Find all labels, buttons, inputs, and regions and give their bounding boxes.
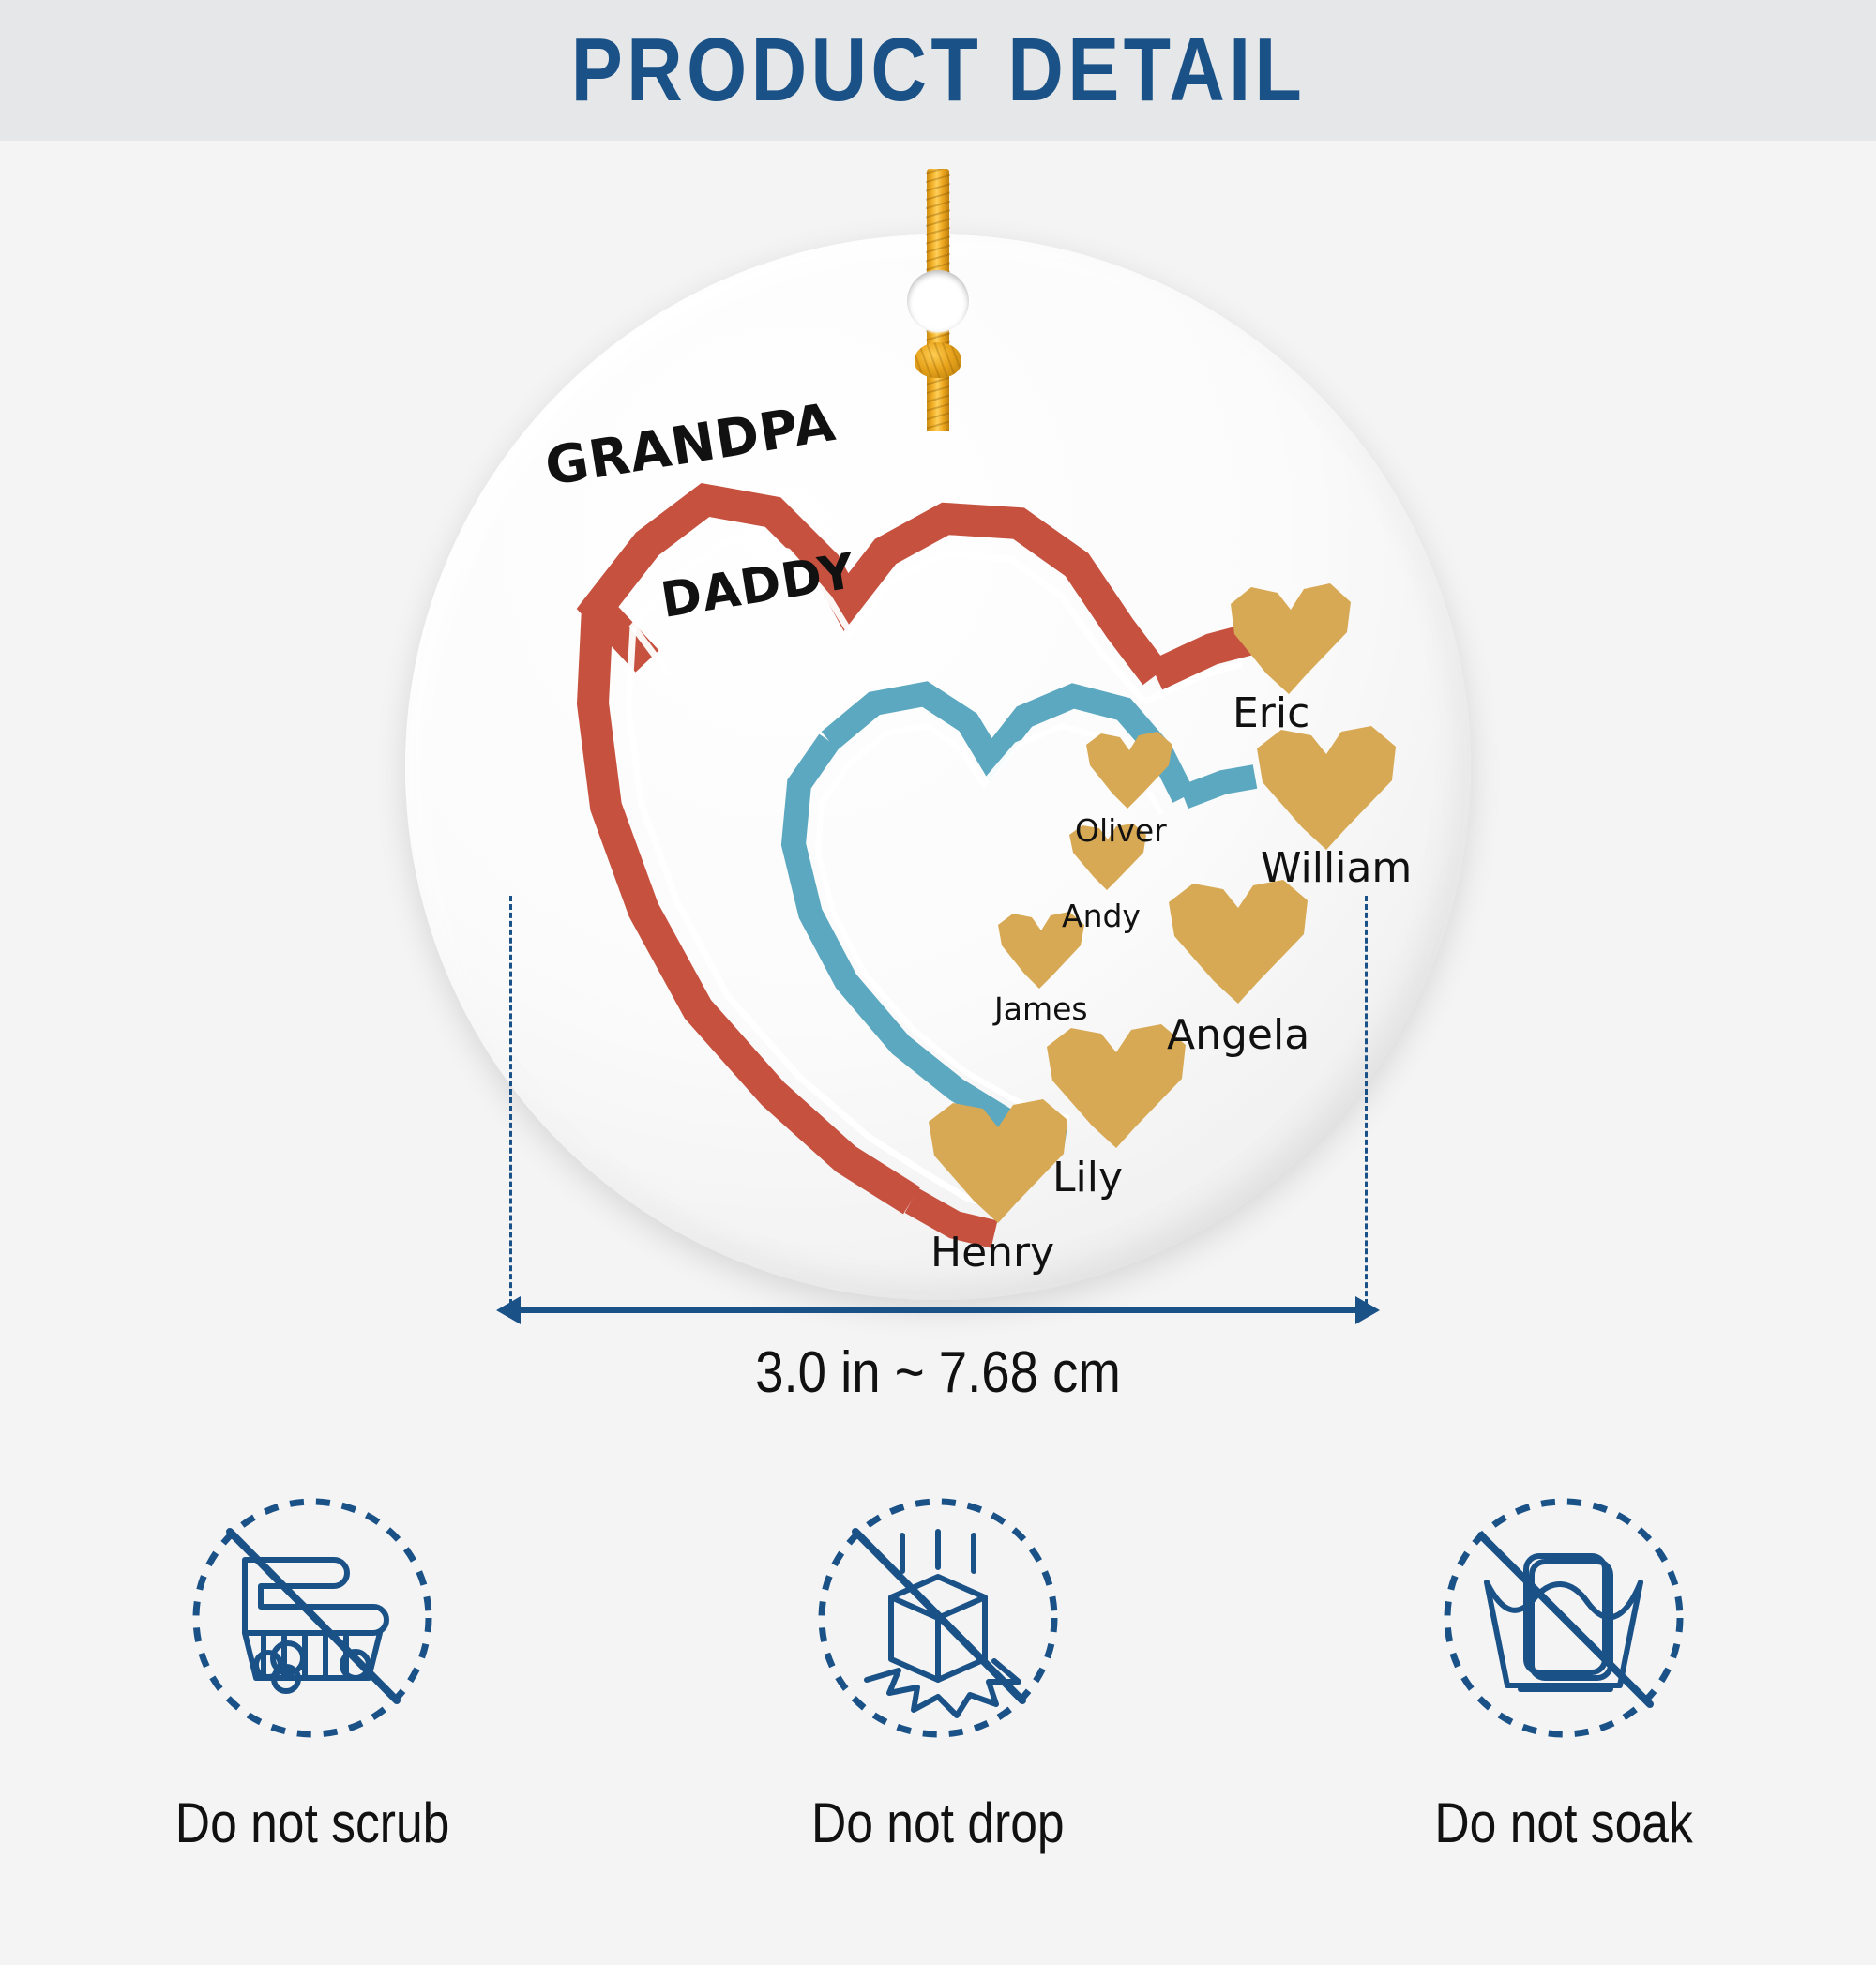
dimension-arrow-left-icon [496,1296,521,1324]
name-label-lily: Lily [1052,1154,1123,1202]
gold-cord-knot-icon [915,342,961,378]
care-item-soak: Do not soak [1301,1477,1826,1855]
name-label-james: James [994,990,1088,1027]
heart-oliver [1086,732,1172,809]
name-label-henry: Henry [930,1229,1054,1277]
no-drop-icon [797,1477,1079,1759]
name-label-angela: Angela [1167,1011,1309,1059]
heart-eric [1231,583,1351,694]
dimension-guide-right [1365,896,1368,1313]
no-scrub-icon [172,1477,453,1759]
care-item-drop: Do not drop [675,1477,1201,1855]
no-soak-icon [1423,1477,1704,1759]
dimension-label: 3.0 in ~ 7.68 cm [113,1339,1763,1406]
name-label-andy: Andy [1062,898,1141,934]
product-stage: GRANDPA DADDY Eric Oliver William Andy J… [0,141,1876,1876]
name-label-eric: Eric [1233,689,1309,737]
care-instructions-row: Do not scrub Do not drop [0,1477,1876,1965]
care-caption-scrub: Do not scrub [175,1791,450,1855]
dimension-line [509,1307,1365,1313]
heart-angela [1169,880,1308,1004]
name-label-oliver: Oliver [1075,812,1167,849]
dimension-arrow-right-icon [1355,1296,1380,1324]
page-title: PRODUCT DETAIL [570,19,1305,122]
dimension-guide-left [509,896,512,1313]
care-caption-drop: Do not drop [811,1791,1065,1855]
page-header: PRODUCT DETAIL [0,0,1876,141]
care-item-scrub: Do not scrub [50,1477,575,1855]
name-label-william: William [1261,844,1412,892]
care-caption-soak: Do not soak [1434,1791,1692,1855]
ornament-hang-hole [907,270,969,332]
heart-lily [1047,1024,1186,1148]
heart-william [1257,726,1396,850]
